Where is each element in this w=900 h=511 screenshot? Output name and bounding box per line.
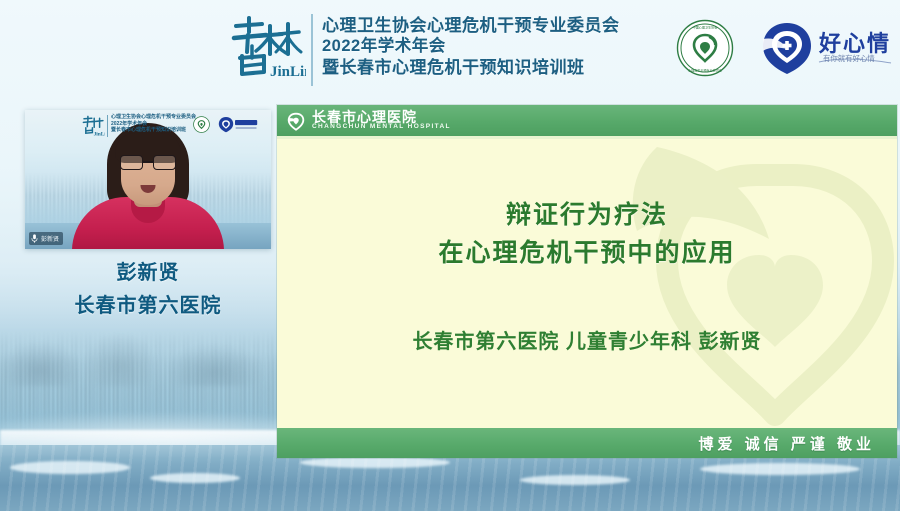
svg-text:JinLin: JinLin	[270, 64, 306, 80]
hospital-heart-logo-icon	[285, 110, 307, 132]
hospital-name-en: CHANGCHUN MENTAL HOSPITAL	[312, 124, 451, 131]
slide-body: 辩证行为疗法 在心理危机干预中的应用 长春市第六医院 儿童青少年科 彭新贤	[277, 139, 897, 428]
event-banner-text: 心理卫生协会心理危机干预专业委员会 2022年学术年会 暨长春市心理危机干预知识…	[322, 15, 620, 79]
mic-badge-name: 彭新贤	[41, 234, 59, 243]
event-banner: JinLin 心理卫生协会心理危机干预专业委员会 2022年学术年会 暨长春市心…	[0, 0, 900, 100]
hospital-name-cn: 长春市心理医院	[312, 110, 451, 125]
mental-health-association-seal-icon: 中国心理卫生协会 心理危机干预专业委员会	[676, 19, 734, 77]
microphone-icon	[31, 234, 38, 243]
slide-title-line-2: 在心理危机干预中的应用	[277, 235, 897, 273]
svg-text:有你就有好心情: 有你就有好心情	[823, 54, 875, 63]
banner-divider	[311, 14, 313, 86]
presentation-slide[interactable]: 长春市心理医院 CHANGCHUN MENTAL HOSPITAL 辩证行为疗法…	[277, 105, 897, 458]
hospital-name-block: 长春市心理医院 CHANGCHUN MENTAL HOSPITAL	[312, 110, 451, 131]
banner-line-2: 2022年学术年会	[322, 36, 620, 57]
presenter-glasses-icon	[120, 155, 176, 171]
svg-text:中国心理卫生协会: 中国心理卫生协会	[693, 24, 718, 29]
speaker-caption: 彭新贤 长春市第六医院	[0, 256, 296, 318]
banner-line-1: 心理卫生协会心理危机干预专业委员会	[322, 15, 620, 36]
svg-text:好: 好	[818, 31, 841, 56]
banner-line-3: 暨长春市心理危机干预知识培训班	[322, 57, 620, 78]
slide-heart-watermark-icon	[507, 135, 897, 458]
slide-footer: 博爱 诚信 严谨 敬业	[277, 428, 897, 458]
jilin-province-logo-icon: JinLin	[226, 10, 306, 90]
speaker-video-tile[interactable]: JinLin 心理卫生协会心理危机干预专业委员会 2022年学术年会 暨长春市心…	[25, 110, 271, 249]
webinar-screen: JinLin 心理卫生协会心理危机干预专业委员会 2022年学术年会 暨长春市心…	[0, 0, 900, 511]
slide-footer-motto: 博爱 诚信 严谨 敬业	[698, 433, 875, 454]
svg-text:心: 心	[843, 31, 865, 56]
mic-status-badge: 彭新贤	[29, 232, 63, 245]
slide-title-line-1: 辩证行为疗法	[277, 197, 897, 235]
slide-subtitle: 长春市第六医院 儿童青少年科 彭新贤	[277, 325, 897, 354]
slide-title: 辩证行为疗法 在心理危机干预中的应用	[277, 197, 897, 272]
speaker-name: 彭新贤	[0, 256, 296, 285]
haoxinqing-partner-logo-icon: 好 心 情 有你就有好心情	[757, 17, 897, 79]
presenter-figure	[25, 127, 271, 249]
svg-text:心理危机干预专业委员会: 心理危机干预专业委员会	[688, 68, 722, 73]
svg-text:情: 情	[867, 31, 889, 56]
speaker-organization: 长春市第六医院	[0, 289, 296, 318]
slide-hospital-header: 长春市心理医院 CHANGCHUN MENTAL HOSPITAL	[277, 105, 897, 136]
